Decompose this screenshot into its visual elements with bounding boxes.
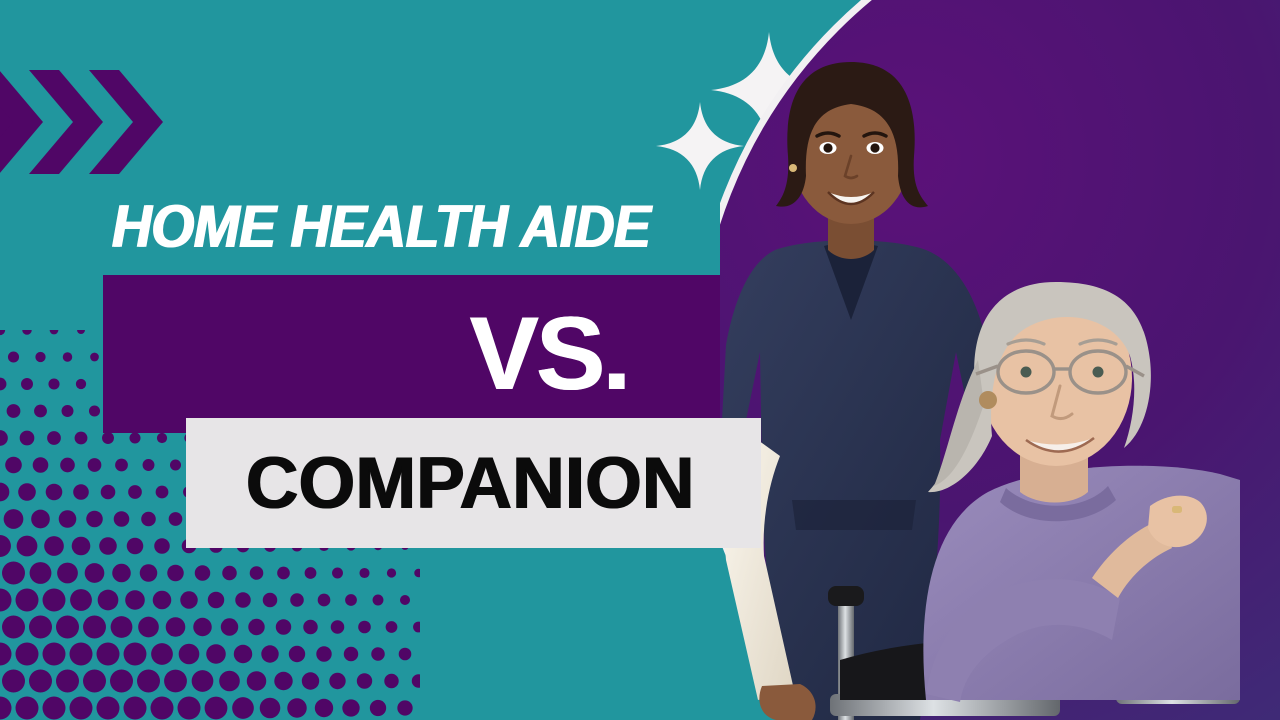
- caregiver-and-client-photo: [720, 0, 1240, 720]
- subject-bar: COMPANION: [186, 418, 761, 548]
- versus-bar: VS.: [103, 275, 766, 433]
- chevron-right-icon: [0, 70, 198, 174]
- subject-label: COMPANION: [182, 418, 757, 548]
- chevron-arrow-group: [0, 70, 198, 174]
- headline-kicker: HOME HEALTH AIDE: [111, 197, 650, 257]
- photo-panel: [720, 0, 1280, 720]
- banner-canvas: HOME HEALTH AIDE VS.: [0, 0, 1280, 720]
